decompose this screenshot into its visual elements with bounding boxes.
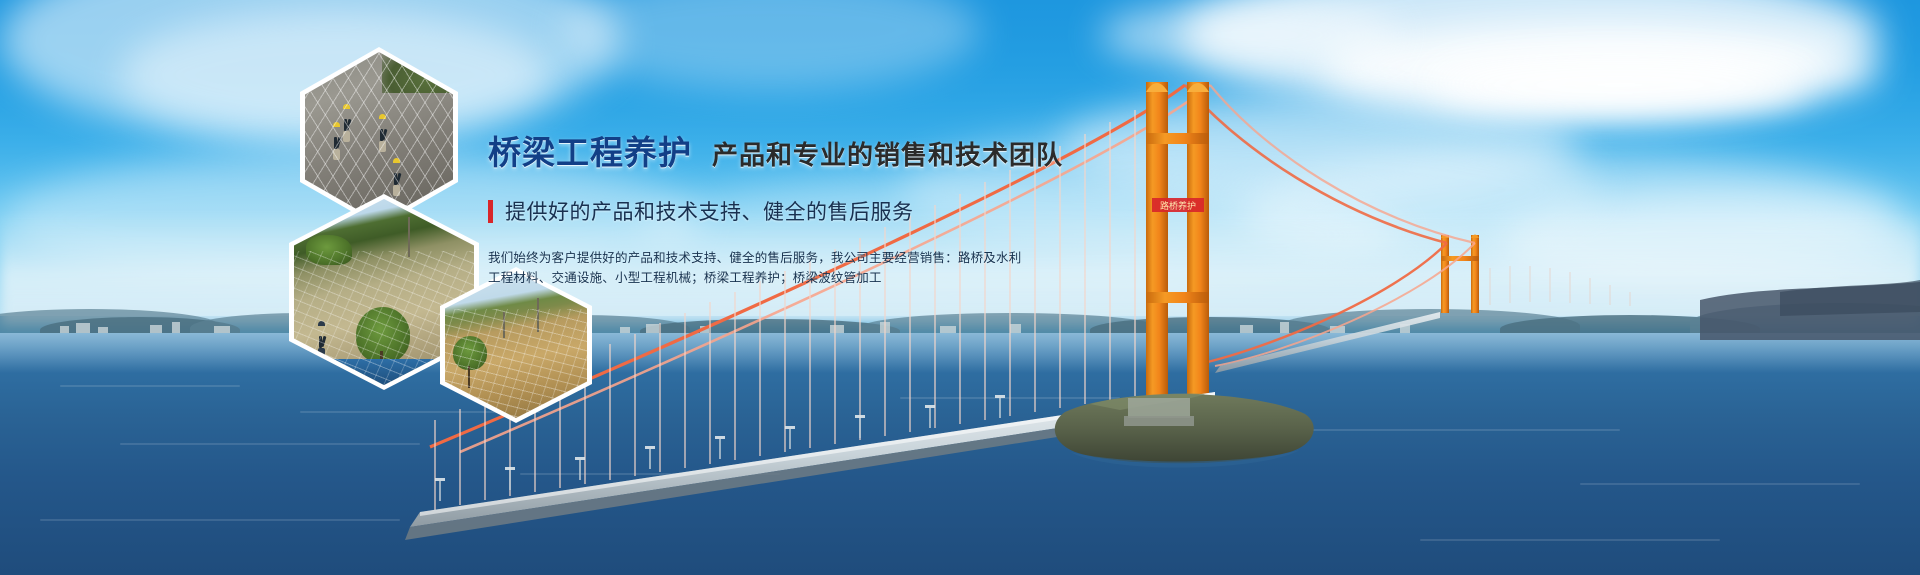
sea-water (0, 333, 1920, 575)
hero-banner: 路桥养护 (0, 0, 1920, 575)
water-specular-highlight (0, 333, 1920, 373)
body-paragraph: 我们始终为客户提供好的产品和技术支持、健全的售后服务，我公司主要经营销售：路桥及… (488, 248, 1128, 288)
earth-slope-mesh-image (445, 272, 587, 418)
accent-bar (488, 200, 493, 223)
distant-city-skyline (0, 316, 1920, 334)
body-line-2: 工程材料、交通设施、小型工程机械；桥梁工程养护；桥梁波纹管加工 (488, 268, 1128, 288)
headline: 桥梁工程养护 产品和专业的销售和技术团队 (488, 126, 1128, 174)
subheadline-text: 提供好的产品和技术支持、健全的售后服务 (505, 196, 914, 226)
banner-copy: 桥梁工程养护 产品和专业的销售和技术团队 提供好的产品和技术支持、健全的售后服务… (488, 126, 1128, 288)
headline-secondary: 产品和专业的销售和技术团队 (712, 135, 1063, 172)
rock-slope-mesh-image (305, 52, 453, 222)
body-line-1: 我们始终为客户提供好的产品和技术支持、健全的售后服务，我公司主要经营销售：路桥及… (488, 248, 1128, 268)
subheadline-row: 提供好的产品和技术支持、健全的售后服务 (488, 196, 1128, 226)
headline-primary: 桥梁工程养护 (488, 126, 692, 174)
